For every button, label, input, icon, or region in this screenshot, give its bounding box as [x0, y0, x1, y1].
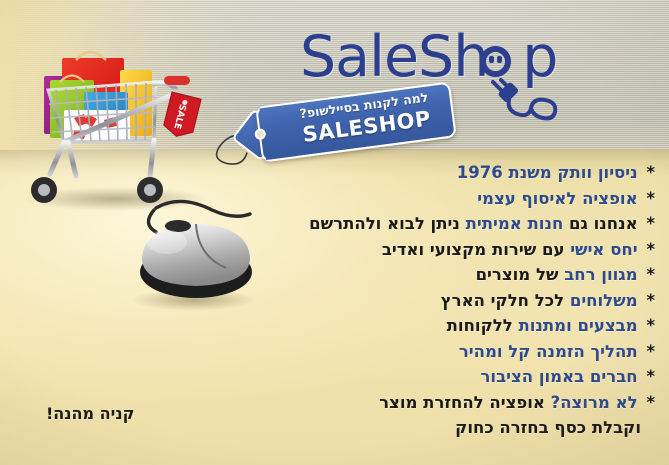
bullet-star: * [646, 342, 655, 361]
list-item: * מגוון רחב של מוצרים [175, 262, 655, 288]
bullet-star: * [646, 367, 655, 386]
bullet-star: * [646, 240, 655, 259]
feature-text-1: ניסיון וותק משנת 1976 [457, 163, 638, 182]
brand-name-before: SaleSh [300, 24, 488, 90]
power-socket-icon [480, 46, 511, 77]
bullet-star: * [646, 265, 655, 284]
bullet-star: * [646, 316, 655, 335]
feature-text-2: אופציה לאיסוף עצמי [477, 189, 637, 208]
list-item: * אנחנו גם חנות אמיתית ניתן לבוא ולהתרשם [175, 211, 655, 237]
bullet-star: * [646, 189, 655, 208]
cart-basket [48, 82, 156, 142]
feature-text-9: חברים באמון הציבור [480, 367, 637, 386]
feature-text-10a: לא מרוצה? [551, 393, 638, 412]
list-item: * אופציה לאיסוף עצמי [175, 186, 655, 212]
closing-slogan: קניה מהנה! [46, 404, 134, 423]
features-list: * ניסיון וותק משנת 1976 * אופציה לאיסוף … [175, 160, 655, 441]
feature-text-6b: לכל חלקי הארץ [441, 291, 564, 310]
feature-text-7b: ללקוחות [447, 316, 513, 335]
feature-text-4a: יחס אישי [570, 240, 637, 259]
feature-text-10b: אופציה להחזרת מוצר [379, 393, 545, 412]
feature-text-3a: אנחנו גם [569, 214, 638, 233]
cart-handle [154, 76, 190, 90]
list-item: * חברים באמון הציבור [175, 364, 655, 390]
list-item: * יחס אישי עם שירות מקצועי ואדיב [175, 237, 655, 263]
feature-text-3c: ניתן לבוא ולהתרשם [309, 214, 460, 233]
list-item: * תהליך הזמנה קל ומהיר [175, 339, 655, 365]
bullet-star: * [646, 214, 655, 233]
list-item: * לא מרוצה? אופציה להחזרת מוצר [175, 390, 655, 416]
feature-text-4b: עם שירות מקצועי ואדיב [382, 240, 565, 259]
feature-text-6a: משלוחים [570, 291, 638, 310]
saleshop-promo-banner: SALE [0, 0, 669, 465]
feature-text-5b: של מוצרים [476, 265, 559, 284]
list-item: * מבצעים ומתנות ללקוחות [175, 313, 655, 339]
list-item: * ניסיון וותק משנת 1976 [175, 160, 655, 186]
bullet-star: * [646, 163, 655, 182]
list-item: * משלוחים לכל חלקי הארץ [175, 288, 655, 314]
feature-text-8: תהליך הזמנה קל ומהיר [459, 342, 638, 361]
power-plug-cord-icon [487, 78, 577, 130]
feature-text-5a: מגוון רחב [564, 265, 637, 284]
bullet-star: * [646, 393, 655, 412]
feature-continuation: וקבלת כסף בחזרה כחוק [175, 415, 655, 441]
bullet-star: * [646, 291, 655, 310]
feature-text-3b: חנות אמיתית [466, 214, 564, 233]
feature-text-7a: מבצעים ומתנות [518, 316, 637, 335]
